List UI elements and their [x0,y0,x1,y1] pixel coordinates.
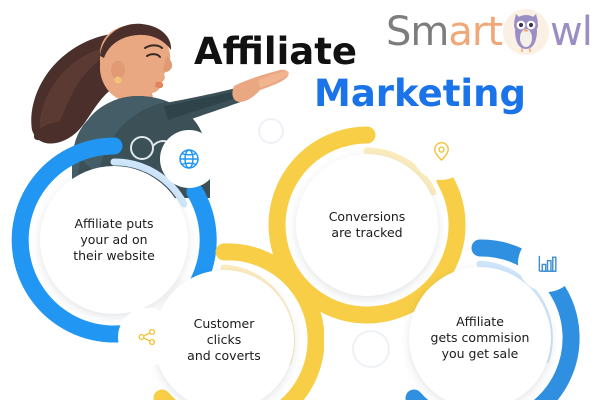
location-pin-icon-glyph [430,140,453,163]
globe-icon-glyph [177,147,201,171]
title-line-marketing: Marketing [314,72,526,115]
bar-chart-icon [530,246,564,280]
logo-text-wl: wl [550,12,592,52]
bar-chart-icon-glyph [536,252,559,275]
step-node-3[interactable]: Customer clicks and coverts [124,240,324,400]
infographic-canvas: Sm art [0,0,600,400]
brand-logo[interactable]: Sm art [386,4,598,60]
step-3-badge[interactable] [118,308,176,366]
globe-icon [172,142,206,176]
step-3-label: Customer clicks and coverts [179,316,269,364]
step-4-label: Affiliate gets commision you get sale [423,314,538,362]
logo-text-art: art [448,12,502,52]
step-4-badge[interactable] [518,234,576,292]
share-nodes-icon [130,320,164,354]
owl-icon-glyph [510,12,542,52]
logo-text-sm: Sm [386,12,448,52]
step-1-badge[interactable] [160,130,218,188]
step-node-4[interactable]: Affiliate gets commision you get sale [378,236,582,400]
share-nodes-icon-glyph [136,326,158,348]
step-2-badge[interactable] [412,122,470,180]
location-pin-icon [424,134,458,168]
owl-icon [503,9,549,55]
